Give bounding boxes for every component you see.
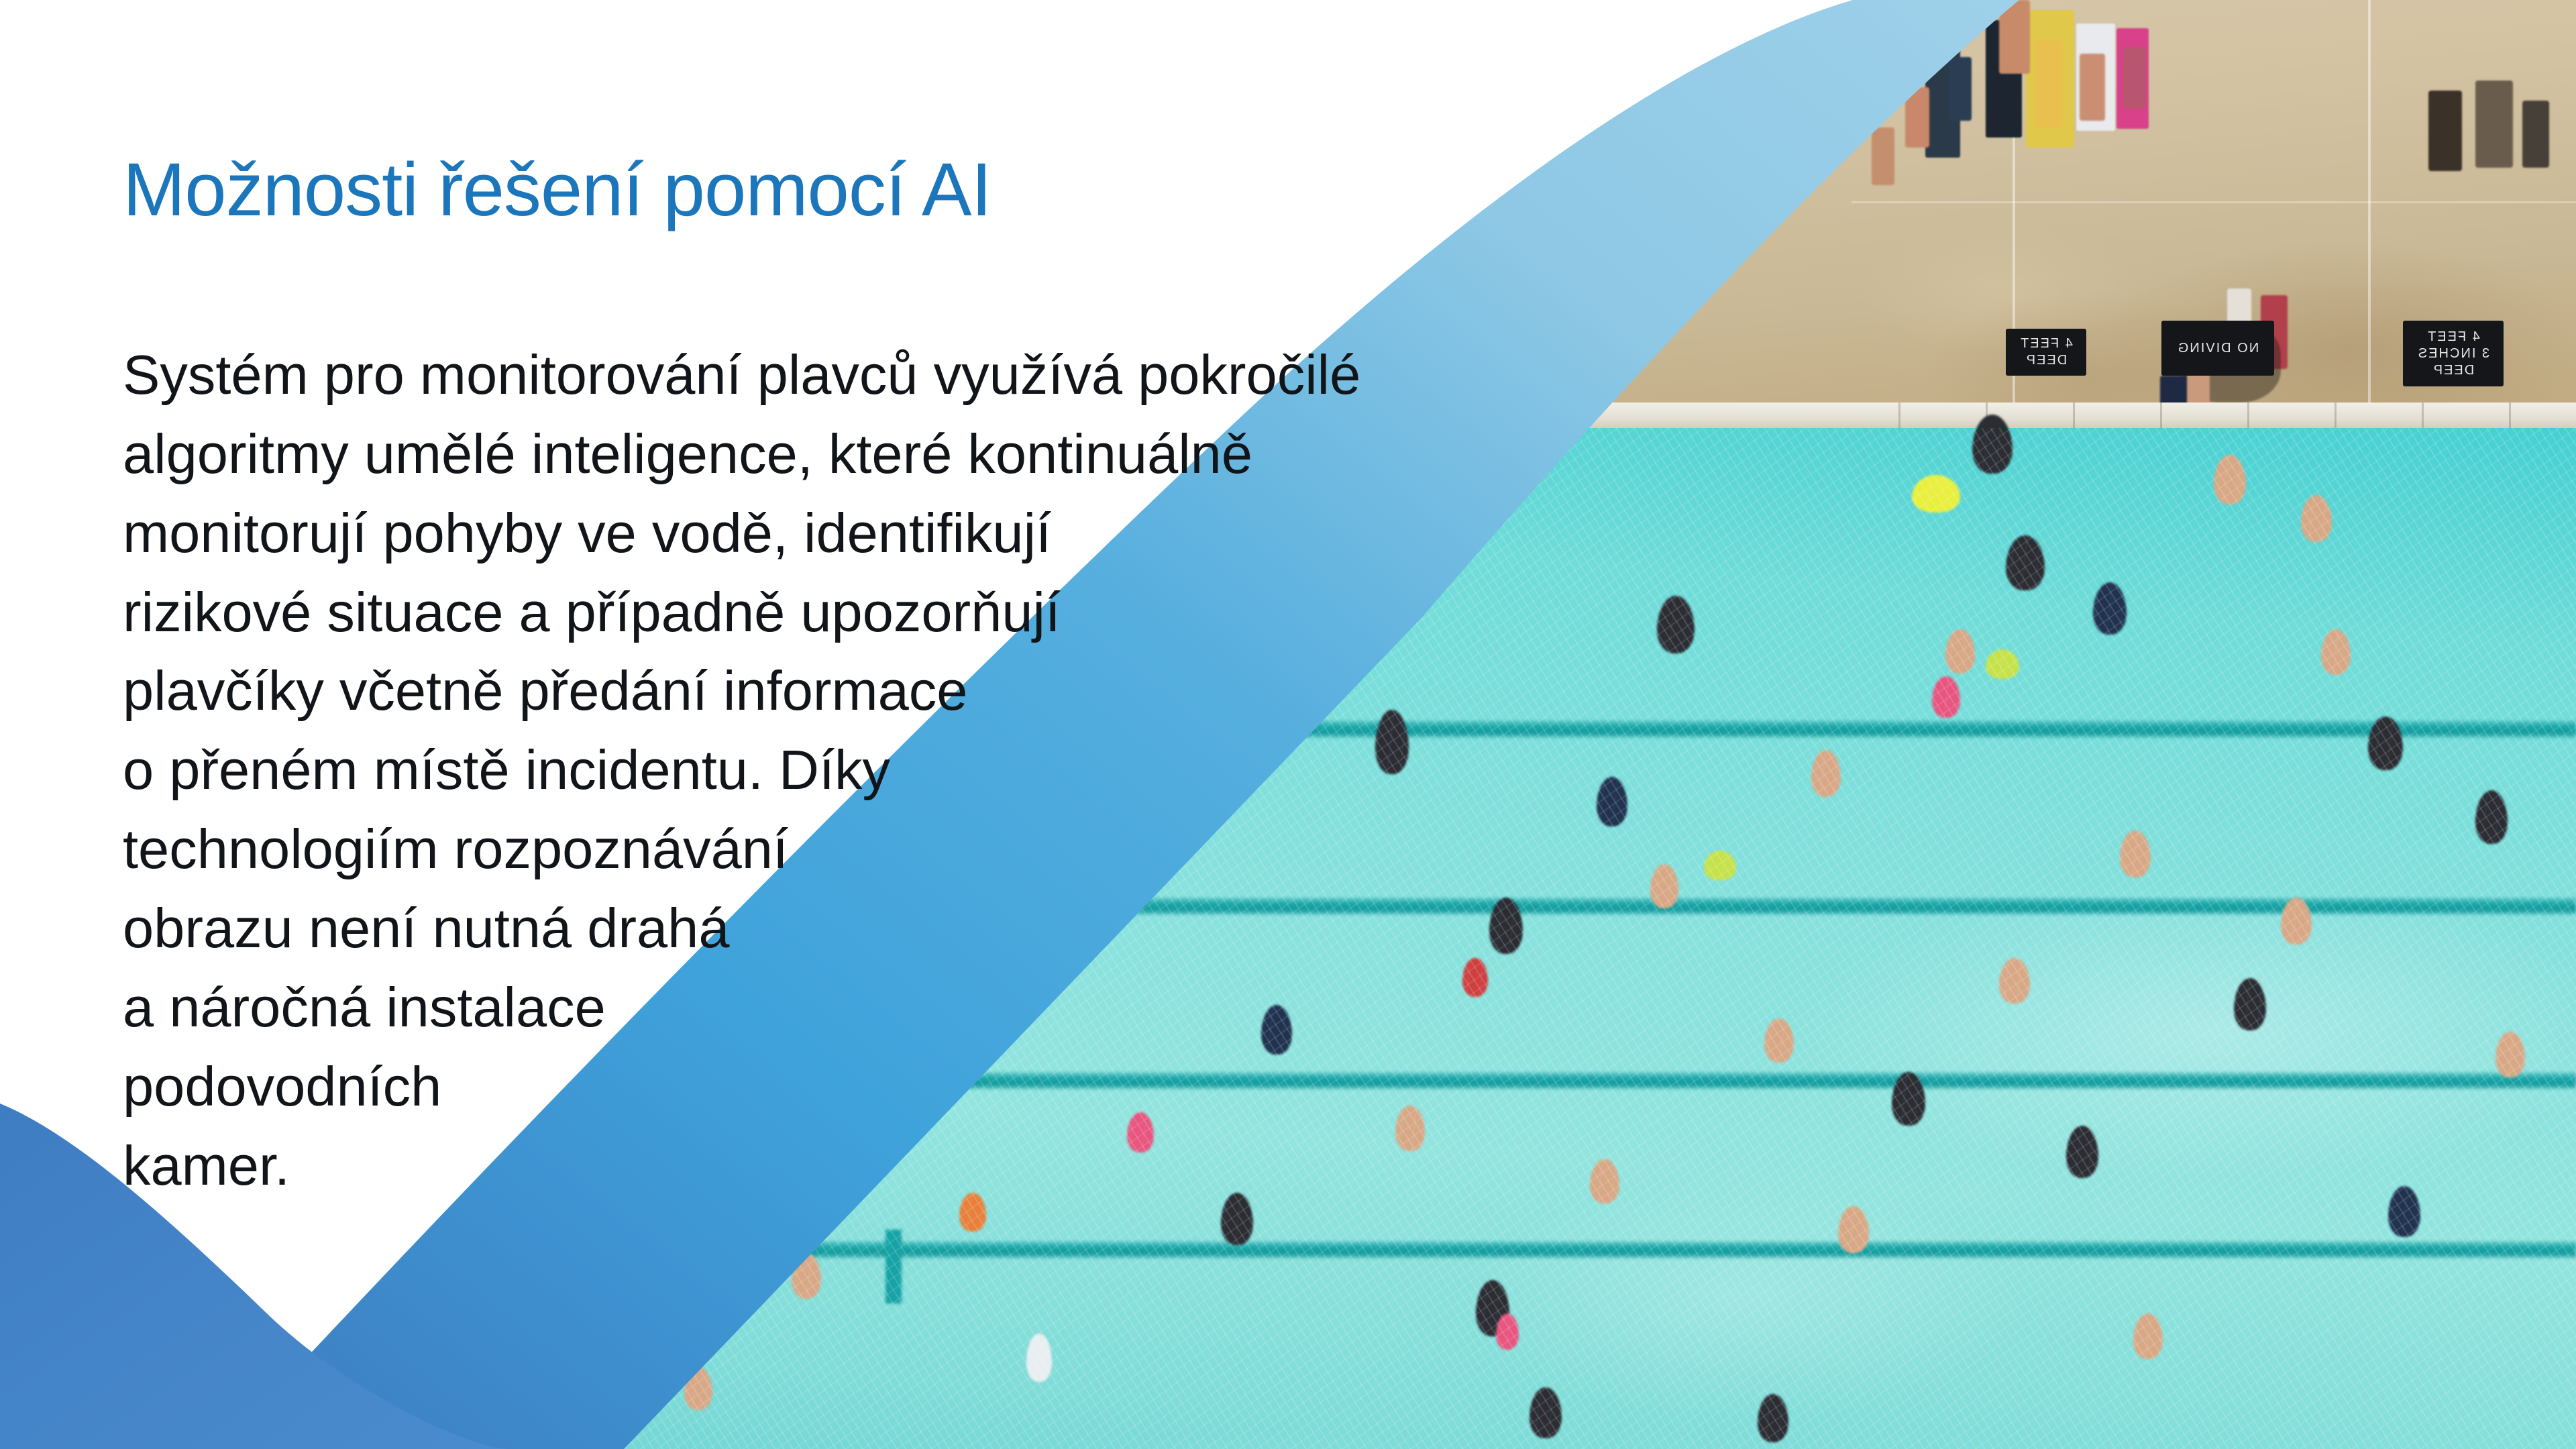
body-line: monitorují pohyby ve vodě, identifikují [123, 494, 1498, 573]
body-line: Systém pro monitorování plavců využívá p… [123, 335, 1498, 415]
body-line: rizikové situace a případně upozorňují [123, 573, 1498, 652]
depth-sign-left: 4 FEET DEEP [2006, 329, 2086, 376]
slide-text-content: Možnosti řešení pomocí AI Systém pro mon… [0, 0, 1476, 1449]
beach-towel [1888, 5, 1918, 86]
sunbather [2080, 54, 2105, 121]
sunbather [1949, 57, 1972, 121]
depth-sign-left-line-1: 4 FEET [2019, 337, 2073, 351]
sunbather [1905, 87, 1929, 148]
sunbather [1872, 127, 1894, 185]
sunbather [1999, 0, 2030, 74]
deck-seam [1851, 201, 2576, 203]
page-title: Možnosti řešení pomocí AI [123, 146, 991, 233]
presentation-slide: 4 FEET DEEP NO DIVING 4 FEET 3 INCHES DE… [0, 0, 2576, 1449]
body-line: kamer. [123, 1126, 1498, 1205]
depth-sign-right-line-2: 3 INCHES [2417, 347, 2489, 361]
body-line: obrazu není nutná drahá [123, 889, 1498, 968]
sunbather [2428, 91, 2462, 171]
body-line: o přeném místě incidentu. Díky [123, 731, 1498, 810]
depth-sign-right-line-1: 4 FEET [2426, 330, 2480, 344]
sunbather [2036, 40, 2063, 127]
body-line: technologiím rozpoznávání [123, 810, 1498, 889]
depth-sign-right: 4 FEET 3 INCHES DEEP [2403, 321, 2504, 386]
body-line: podovodních [123, 1047, 1498, 1126]
no-diving-sign-line-1: NO DIVING [2177, 341, 2259, 356]
body-paragraph: Systém pro monitorování plavců využívá p… [123, 335, 1498, 1205]
depth-sign-left-line-2: DEEP [2025, 354, 2067, 368]
no-diving-sign: NO DIVING [2161, 321, 2274, 376]
sunbather [2522, 101, 2549, 168]
depth-sign-right-line-3: DEEP [2432, 364, 2474, 378]
body-line: algoritmy umělé inteligence, které konti… [123, 415, 1498, 494]
sunbather [2475, 80, 2513, 168]
body-line: plavčíky včetně předání informace [123, 651, 1498, 731]
body-line: a náročná instalace [123, 968, 1498, 1047]
sunbather [2123, 47, 2146, 109]
deck-seam [2368, 0, 2371, 429]
